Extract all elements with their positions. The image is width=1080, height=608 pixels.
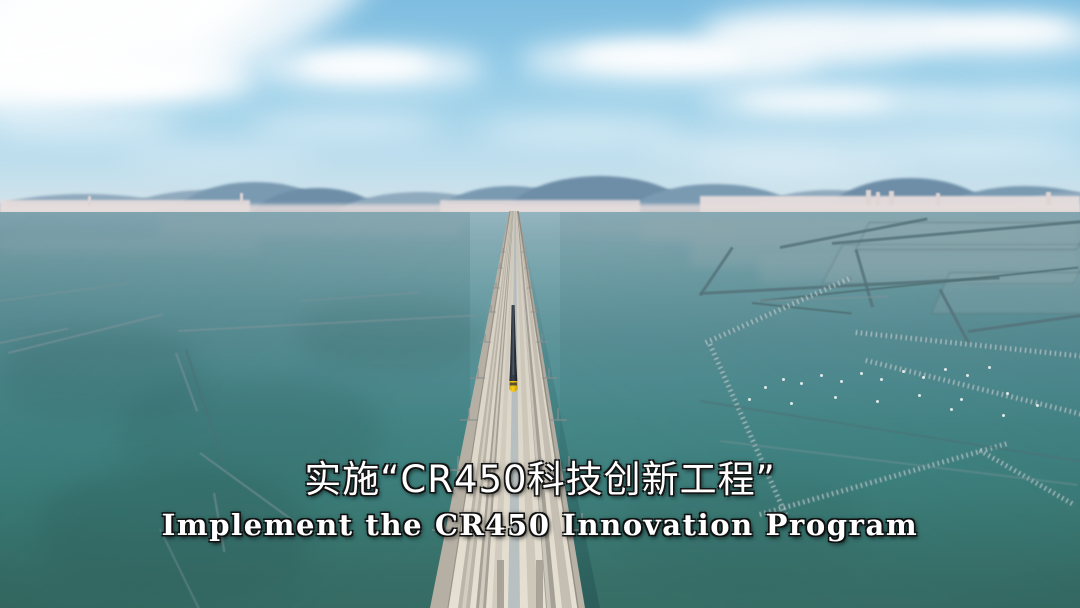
net-float xyxy=(790,402,793,405)
net-float xyxy=(834,396,837,399)
net-float xyxy=(988,366,991,369)
net-float xyxy=(748,398,751,401)
net-float xyxy=(1036,404,1039,407)
net-float xyxy=(800,382,803,385)
sandbar xyxy=(160,218,460,236)
net-float xyxy=(966,374,969,377)
tower-icon xyxy=(88,196,91,205)
video-frame: 实施“CR450科技创新工程” Implement the CR450 Inno… xyxy=(0,0,1080,608)
net-float xyxy=(876,400,879,403)
net-float xyxy=(902,370,905,373)
seabed-patch xyxy=(0,330,200,420)
tower-icon xyxy=(889,191,894,205)
net-float xyxy=(922,376,925,379)
subtitle-chinese: 实施“CR450科技创新工程” xyxy=(0,458,1080,502)
net-float xyxy=(782,378,785,381)
net-float xyxy=(860,372,863,375)
net-float xyxy=(820,374,823,377)
subtitle-english: Implement the CR450 Innovation Program xyxy=(0,506,1080,544)
subtitle-block: 实施“CR450科技创新工程” Implement the CR450 Inno… xyxy=(0,458,1080,544)
net-float xyxy=(918,394,921,397)
seabed-patch xyxy=(300,300,480,370)
net-float xyxy=(1006,392,1009,395)
net-float xyxy=(880,378,883,381)
train-icon xyxy=(503,305,525,395)
tower-icon xyxy=(936,193,940,205)
net-float xyxy=(944,368,947,371)
net-float xyxy=(950,408,953,411)
tower-icon xyxy=(240,193,243,204)
net-float xyxy=(960,398,963,401)
sandbar xyxy=(0,236,260,252)
net-float xyxy=(764,386,767,389)
tower-icon xyxy=(866,190,871,205)
sandbar xyxy=(560,222,740,236)
tower-icon xyxy=(1046,192,1051,205)
net-float xyxy=(840,380,843,383)
tower-icon xyxy=(876,192,880,205)
net-float xyxy=(1002,414,1005,417)
